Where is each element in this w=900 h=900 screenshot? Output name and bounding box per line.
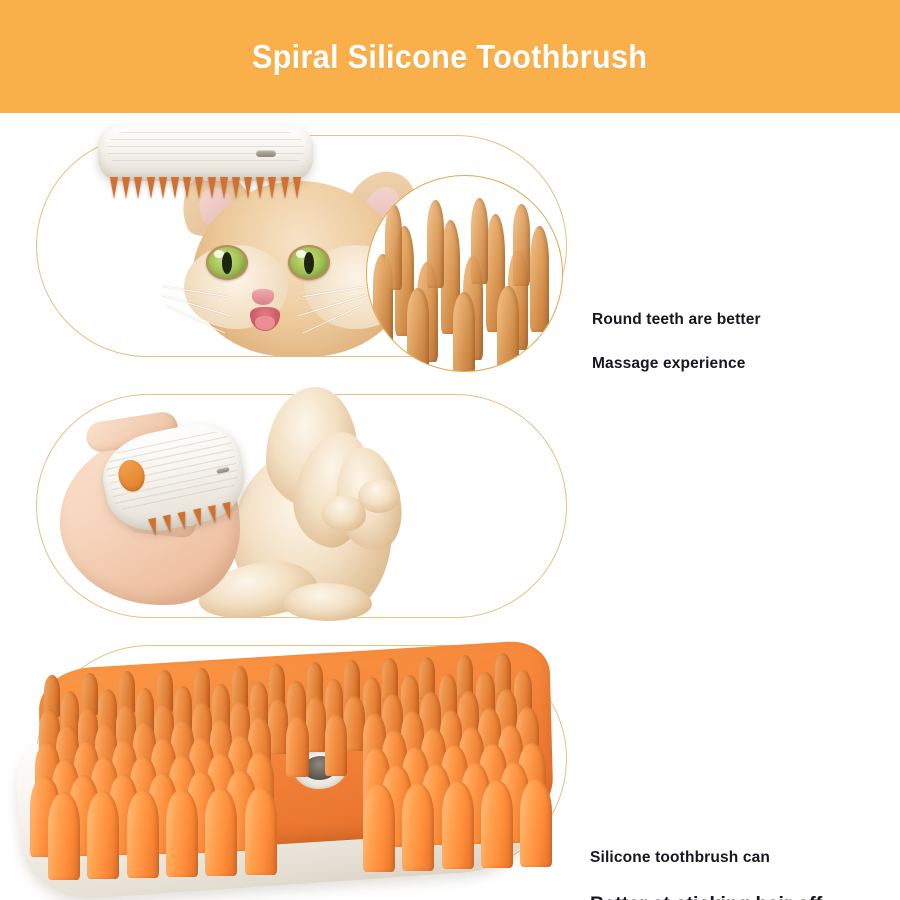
page-title: Spiral Silicone Toothbrush [252, 38, 647, 76]
cat-eye-right [288, 245, 330, 280]
page-header-banner: Spiral Silicone Toothbrush [0, 0, 900, 113]
silicone-brush-device [98, 125, 313, 181]
device-bristle-row [98, 177, 313, 199]
usb-c-port-icon [256, 150, 276, 157]
bristle-cone [245, 787, 277, 875]
bristle-cone [520, 779, 552, 867]
bristle-cone [286, 716, 309, 778]
bristle-cone [205, 788, 237, 876]
bristle-cone [402, 783, 434, 871]
hand-grooming-cat-photo [30, 381, 575, 635]
bristle-cone [127, 790, 159, 878]
feature-panel-1: Round teeth are better Massage experienc… [0, 113, 900, 381]
cat-hind-paw [284, 583, 372, 621]
bristle-cone [325, 714, 348, 776]
cat-nose [252, 289, 274, 305]
panel-1-text-block: Round teeth are better Massage experienc… [592, 311, 761, 373]
brush-head-illustration [10, 641, 570, 887]
bristle-cone [48, 792, 80, 880]
feature-panel-3: The tapered spiral design is suitable fo… [0, 635, 900, 900]
bristle-cone [166, 789, 198, 877]
product-infographic-page: Spiral Silicone Toothbrush [0, 0, 900, 900]
feature-panel-2: Silicone toothbrush can Better at sticki… [0, 381, 900, 635]
bristle-cone [87, 791, 119, 879]
bristle-cone [481, 780, 513, 868]
device-body [98, 125, 313, 181]
cat-head-with-brush-photo [36, 113, 576, 381]
bristle-cone [442, 781, 474, 869]
panel-1-line-1: Round teeth are better [592, 311, 761, 329]
cat-eye-left [206, 245, 248, 280]
panel-1-line-2: Massage experience [592, 355, 761, 373]
bristle-cone [363, 784, 395, 872]
bristle-closeup-magnifier [366, 175, 563, 372]
magnifier-content [367, 176, 562, 371]
cat-paw-right [358, 479, 400, 513]
bristle-cone [344, 696, 365, 751]
brush-head-closeup-photo [0, 635, 580, 900]
